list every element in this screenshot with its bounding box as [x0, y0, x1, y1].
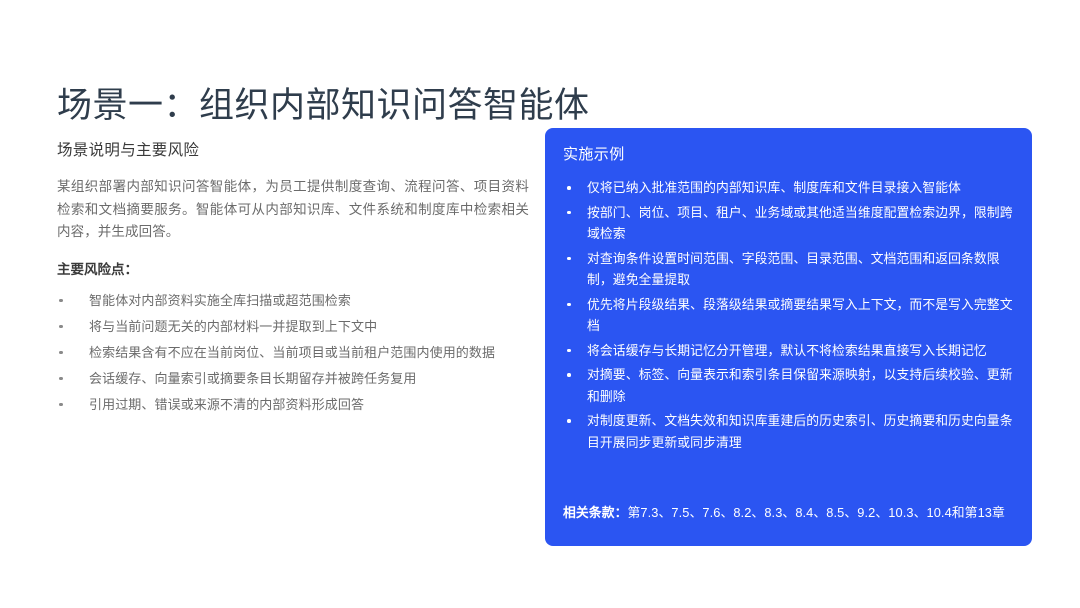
- implementation-examples-panel: 实施示例 仅将已纳入批准范围的内部知识库、制度库和文件目录接入智能体 按部门、岗…: [545, 128, 1032, 546]
- related-clauses: 相关条款：第7.3、7.5、7.6、8.2、8.3、8.4、8.5、9.2、10…: [561, 502, 1014, 523]
- list-item: 智能体对内部资料实施全库扫描或超范围检索: [57, 290, 529, 312]
- list-item: 引用过期、错误或来源不清的内部资料形成回答: [57, 394, 529, 416]
- related-clauses-value: 第7.3、7.5、7.6、8.2、8.3、8.4、8.5、9.2、10.3、10…: [627, 505, 1004, 520]
- implementation-list: 仅将已纳入批准范围的内部知识库、制度库和文件目录接入智能体 按部门、岗位、项目、…: [561, 177, 1014, 453]
- slide-canvas: 场景一：组织内部知识问答智能体 场景说明与主要风险 某组织部署内部知识问答智能体…: [0, 0, 1080, 608]
- subheading-key-risks: 主要风险点：: [57, 260, 529, 280]
- list-item: 对查询条件设置时间范围、字段范围、目录范围、文档范围和返回条数限制，避免全量提取: [561, 248, 1014, 291]
- scenario-paragraph: 某组织部署内部知识问答智能体，为员工提供制度查询、流程问答、项目资料检索和文档摘…: [57, 176, 529, 244]
- list-item: 优先将片段级结果、段落级结果或摘要结果写入上下文，而不是写入完整文档: [561, 294, 1014, 337]
- risk-list: 智能体对内部资料实施全库扫描或超范围检索 将与当前问题无关的内部材料一并提取到上…: [57, 290, 529, 416]
- section-heading-scenario: 场景说明与主要风险: [57, 140, 529, 162]
- list-item: 将与当前问题无关的内部材料一并提取到上下文中: [57, 316, 529, 338]
- list-item: 会话缓存、向量索引或摘要条目长期留存并被跨任务复用: [57, 368, 529, 390]
- list-item: 对制度更新、文档失效和知识库重建后的历史索引、历史摘要和历史向量条目开展同步更新…: [561, 410, 1014, 453]
- list-item: 对摘要、标签、向量表示和索引条目保留来源映射，以支持后续校验、更新和删除: [561, 364, 1014, 407]
- list-item: 按部门、岗位、项目、租户、业务域或其他适当维度配置检索边界，限制跨域检索: [561, 202, 1014, 245]
- list-item: 检索结果含有不应在当前岗位、当前项目或当前租户范围内使用的数据: [57, 342, 529, 364]
- page-title: 场景一：组织内部知识问答智能体: [57, 83, 590, 129]
- list-item: 仅将已纳入批准范围的内部知识库、制度库和文件目录接入智能体: [561, 177, 1014, 199]
- panel-title: 实施示例: [563, 144, 1014, 166]
- list-item: 将会话缓存与长期记忆分开管理，默认不将检索结果直接写入长期记忆: [561, 340, 1014, 362]
- scenario-description-section: 场景说明与主要风险 某组织部署内部知识问答智能体，为员工提供制度查询、流程问答、…: [57, 140, 529, 420]
- related-clauses-label: 相关条款：: [563, 505, 627, 520]
